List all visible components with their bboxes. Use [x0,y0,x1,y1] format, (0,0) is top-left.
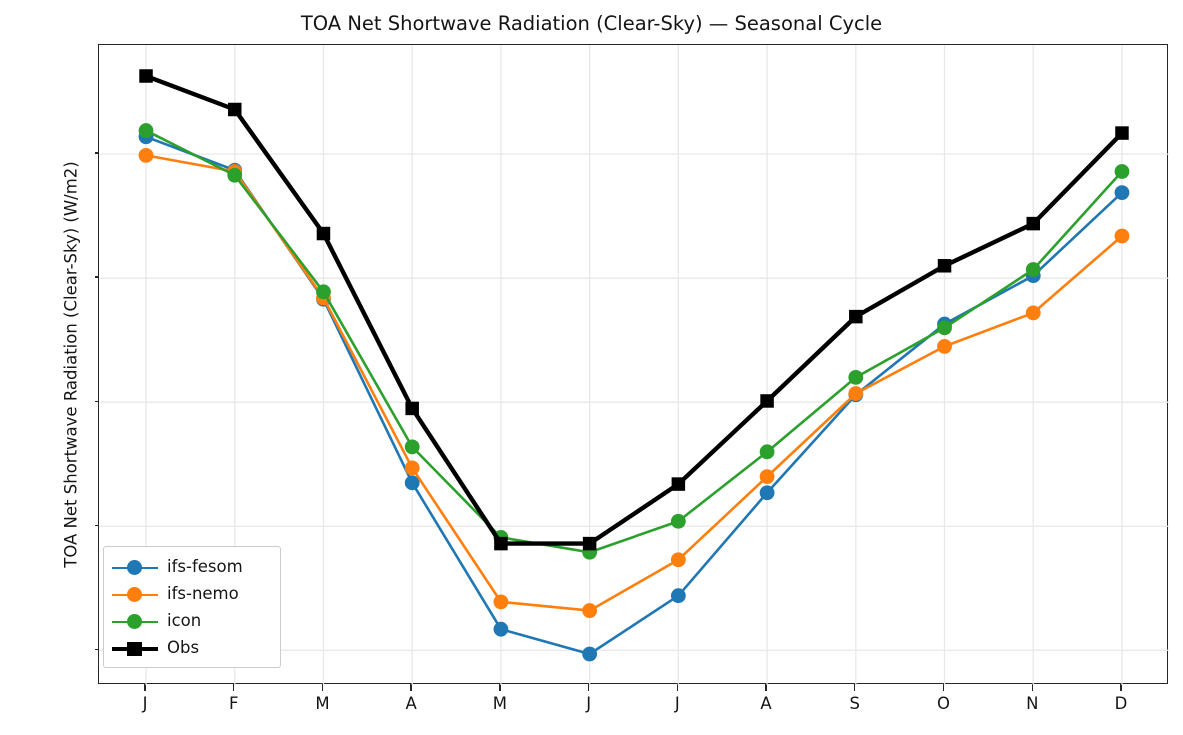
legend-circle-marker-icon [127,614,142,629]
x-tick-mark [499,684,500,691]
x-tick-label: A [381,694,441,713]
x-tick-mark [677,684,678,691]
legend-item-Obs[interactable]: Obs [112,635,272,662]
data-point-ifs-fesom [1115,185,1130,200]
chart-legend: ifs-fesomifs-nemoiconObs [103,546,281,668]
x-tick-label: J [647,694,707,713]
legend-label: icon [167,613,201,630]
legend-swatch-icon [112,611,158,633]
data-point-Obs [317,227,331,241]
data-point-Obs [494,537,508,551]
data-point-ifs-nemo [760,469,775,484]
x-tick-label: J [115,694,175,713]
x-tick-mark [1032,684,1033,691]
x-tick-label: M [470,694,530,713]
data-point-ifs-nemo [937,339,952,354]
x-tick-mark [765,684,766,691]
x-tick-mark [322,684,323,691]
series-line-ifs-nemo [146,155,1122,610]
data-point-icon [405,439,420,454]
data-point-icon [671,514,686,529]
data-point-Obs [760,394,774,408]
legend-item-ifs-fesom[interactable]: ifs-fesom [112,554,272,581]
data-point-icon [848,370,863,385]
data-point-Obs [938,259,952,273]
x-tick-label: O [914,694,974,713]
x-tick-mark [1120,684,1121,691]
data-point-ifs-nemo [405,461,420,476]
legend-circle-marker-icon [127,587,142,602]
data-point-Obs [139,69,153,83]
x-tick-mark [410,684,411,691]
data-point-ifs-nemo [139,148,154,163]
legend-swatch-ifs-fesom [112,557,158,579]
data-point-Obs [228,103,242,117]
data-point-icon [937,320,952,335]
chart-figure: TOA Net Shortwave Radiation (Clear-Sky) … [0,0,1183,735]
data-point-ifs-fesom [760,485,775,500]
x-tick-label: M [292,694,352,713]
x-tick-mark [854,684,855,691]
data-point-ifs-nemo [671,552,686,567]
x-tick-mark [943,684,944,691]
legend-swatch-ifs-nemo [112,584,158,606]
x-tick-label: F [204,694,264,713]
legend-label: ifs-nemo [167,586,239,603]
data-point-icon [760,444,775,459]
data-point-icon [316,284,331,299]
data-point-icon [1026,262,1041,277]
x-tick-mark [144,684,145,691]
data-point-ifs-nemo [1026,306,1041,321]
data-point-Obs [849,310,863,324]
data-point-ifs-nemo [582,603,597,618]
legend-item-ifs-nemo[interactable]: ifs-nemo [112,581,272,608]
x-tick-label: D [1091,694,1151,713]
series-line-Obs [146,76,1122,544]
data-point-ifs-fesom [494,622,509,637]
data-point-ifs-nemo [494,594,509,609]
legend-label: ifs-fesom [167,559,243,576]
data-point-ifs-nemo [1115,229,1130,244]
data-point-ifs-nemo [848,386,863,401]
legend-circle-marker-icon [127,560,142,575]
series-line-ifs-fesom [146,137,1122,654]
data-point-icon [227,168,242,183]
data-point-Obs [1115,126,1129,140]
legend-swatch-Obs [112,638,158,660]
x-tick-mark [233,684,234,691]
data-point-icon [139,123,154,138]
data-point-Obs [672,477,686,491]
data-point-icon [1115,164,1130,179]
legend-square-marker-icon [127,642,142,656]
x-tick-label: J [559,694,619,713]
x-tick-label: A [736,694,796,713]
data-point-ifs-fesom [671,588,686,603]
legend-item-icon[interactable]: icon [112,608,272,635]
data-point-Obs [405,402,419,416]
x-tick-label: S [825,694,885,713]
data-point-ifs-fesom [582,647,597,662]
data-point-Obs [1027,217,1041,231]
x-tick-label: N [1002,694,1062,713]
data-point-Obs [583,537,597,551]
legend-label: Obs [167,640,199,657]
x-tick-mark [588,684,589,691]
